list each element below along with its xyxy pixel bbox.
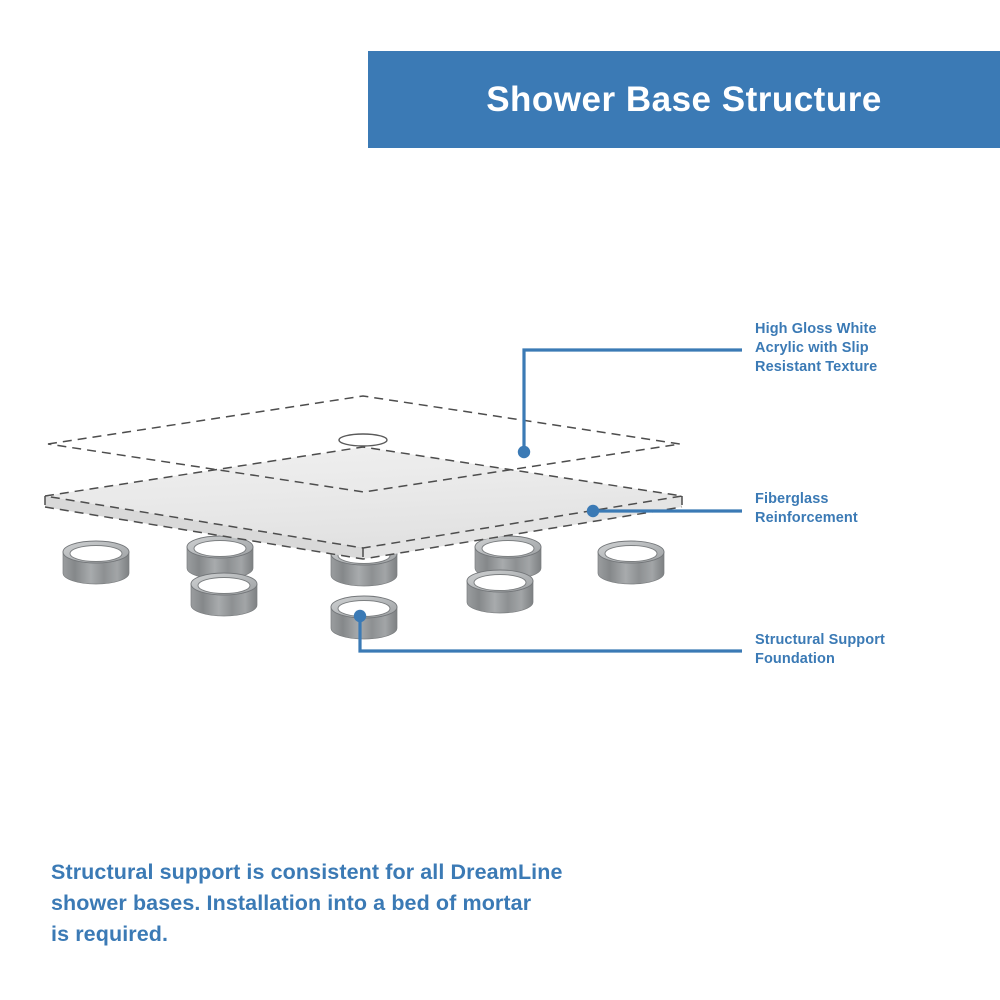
callout-label-fiberglass: Fiberglass Reinforcement	[755, 490, 990, 528]
support-ring	[187, 536, 253, 579]
callout-dot-acrylic	[518, 446, 530, 458]
callout-dot-fiberglass	[587, 505, 599, 517]
callout-leader-support	[360, 616, 742, 651]
support-ring	[598, 541, 664, 584]
header-banner: Shower Base Structure	[368, 51, 1000, 148]
callout-label-acrylic: High Gloss White Acrylic with Slip Resis…	[755, 320, 990, 377]
fiberglass-slab	[45, 447, 682, 559]
callout-label-support: Structural Support Foundation	[755, 631, 990, 669]
support-ring	[191, 573, 257, 616]
page-title: Shower Base Structure	[486, 80, 882, 120]
callout-dot-support	[354, 610, 366, 622]
support-ring	[467, 570, 533, 613]
support-ring	[63, 541, 129, 584]
drain-opening-icon	[339, 434, 387, 446]
footer-caption: Structural support is consistent for all…	[51, 857, 691, 950]
